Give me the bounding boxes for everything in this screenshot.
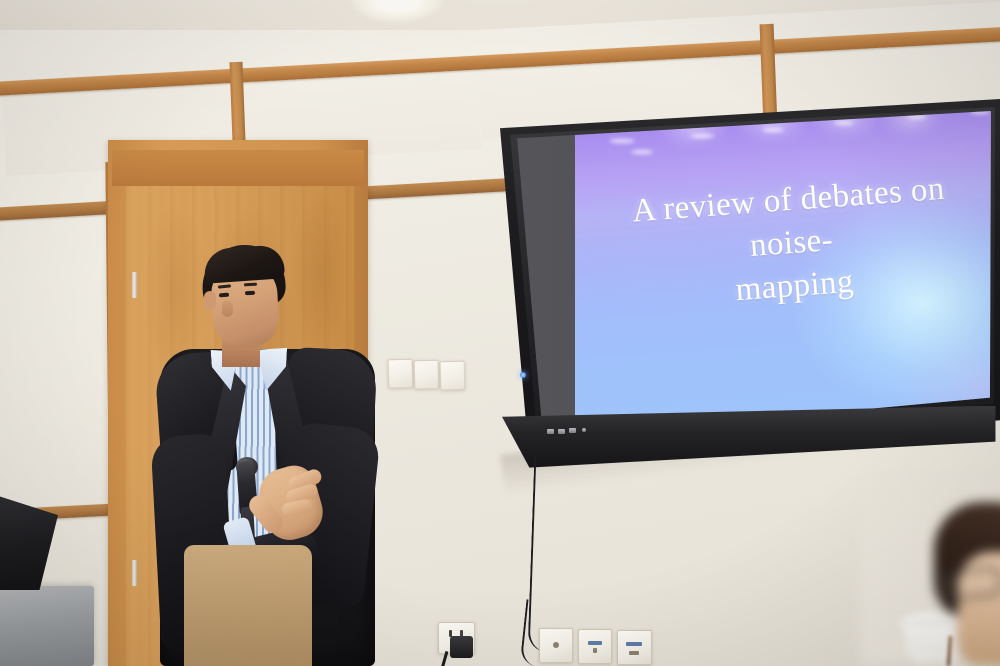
- display-control-button-3[interactable]: [569, 428, 576, 433]
- display-control-button-1[interactable]: [547, 429, 554, 434]
- av-wall-plate-1[interactable]: [539, 628, 573, 663]
- screen-glare-1: [609, 139, 635, 143]
- speaker: [160, 245, 375, 666]
- speaker-ear: [204, 291, 216, 311]
- display-control-button-2[interactable]: [558, 429, 565, 434]
- door-hinge-upper: [132, 272, 137, 298]
- hdmi-port-pin: [593, 648, 597, 653]
- door-header-panel: [112, 150, 364, 186]
- screen-glare-2: [631, 150, 653, 154]
- speaker-trousers: [184, 545, 312, 666]
- vga-port-icon: [626, 642, 642, 646]
- speaker-mouth: [220, 325, 239, 332]
- slide-title: A review of debates on noise- mapping: [588, 165, 995, 323]
- light-switch-3[interactable]: [440, 361, 466, 391]
- presentation-room-photo: A review of debates on noise- mapping: [0, 0, 1000, 666]
- light-switch-2[interactable]: [414, 360, 440, 390]
- speaker-nose: [222, 301, 233, 317]
- display-control-button-4[interactable]: [582, 428, 586, 432]
- door-hinge-lower: [132, 560, 137, 586]
- wall-mounted-display[interactable]: A review of debates on noise- mapping: [497, 99, 1000, 464]
- speaker-eye-right: [245, 291, 255, 296]
- av-wall-plate-2[interactable]: [578, 629, 612, 664]
- audience-member: [916, 508, 1000, 666]
- side-table: [0, 586, 94, 666]
- display-power-led-icon: [520, 372, 526, 378]
- coax-port-icon: [553, 642, 559, 648]
- av-wall-plate-3[interactable]: [617, 630, 652, 665]
- hdmi-port-icon: [588, 641, 602, 645]
- network-port-icon: [629, 651, 639, 655]
- speaker-hair-front: [203, 244, 285, 283]
- light-switch-1[interactable]: [388, 359, 414, 389]
